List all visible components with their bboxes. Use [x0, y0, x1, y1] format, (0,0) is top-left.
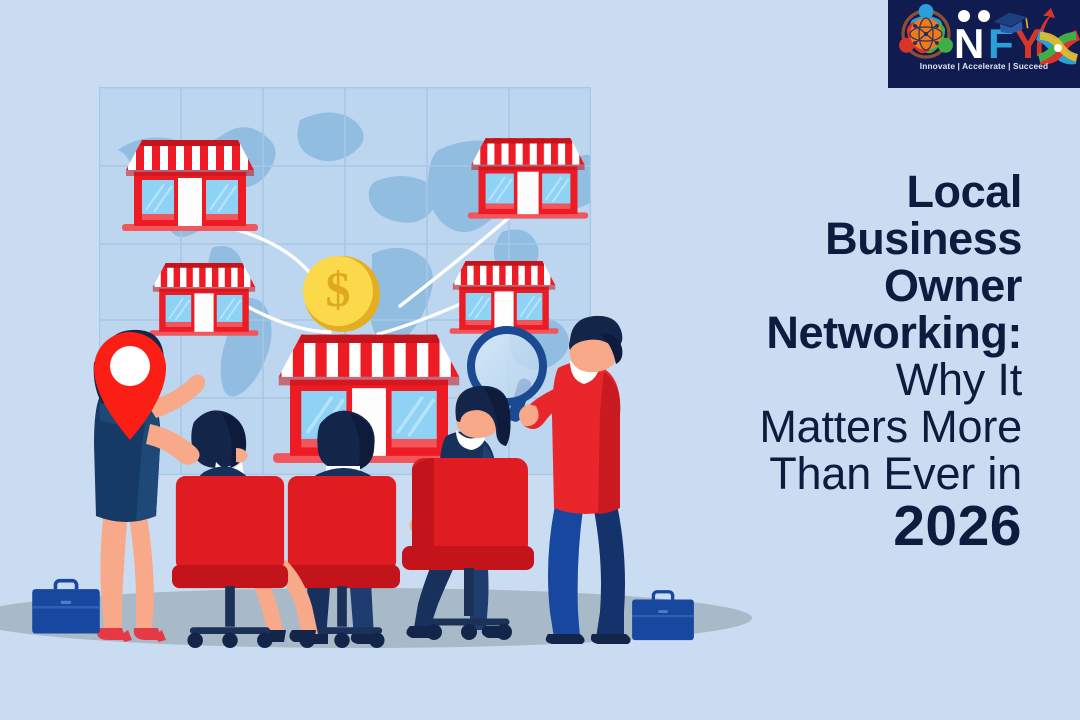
briefcase-icon-left: [32, 581, 100, 634]
headline-line-7: Than Ever in: [602, 450, 1022, 497]
logo-hands-x: [1036, 30, 1080, 64]
headline-line-6: Matters More: [602, 403, 1022, 450]
page-title: Local Business Owner Networking: Why It …: [602, 168, 1022, 557]
headline-line-3: Owner: [602, 262, 1022, 309]
people-globe-network-icon: [892, 4, 960, 63]
poster-canvas: $: [0, 0, 1080, 720]
headline-line-2: Business: [602, 215, 1022, 262]
shop-icon-top-right: [468, 138, 588, 218]
brand-logo-badge[interactable]: N F Y Innovate | Accelerate | Succeed: [888, 0, 1080, 88]
shop-icon-mid-right: [450, 261, 559, 334]
headline-year: 2026: [602, 497, 1022, 557]
shop-icon-top-left: [122, 140, 258, 231]
brand-tagline: Innovate | Accelerate | Succeed: [888, 61, 1080, 71]
logo-letter-n: N: [954, 20, 984, 67]
svg-text:$: $: [326, 261, 351, 317]
headline-line-4: Networking:: [602, 309, 1022, 356]
nfyx-logo-mark: N F Y: [888, 0, 1080, 88]
shop-icon-mid-left: [150, 263, 259, 336]
headline-line-5: Why It: [602, 356, 1022, 403]
headline-line-1: Local: [602, 168, 1022, 215]
